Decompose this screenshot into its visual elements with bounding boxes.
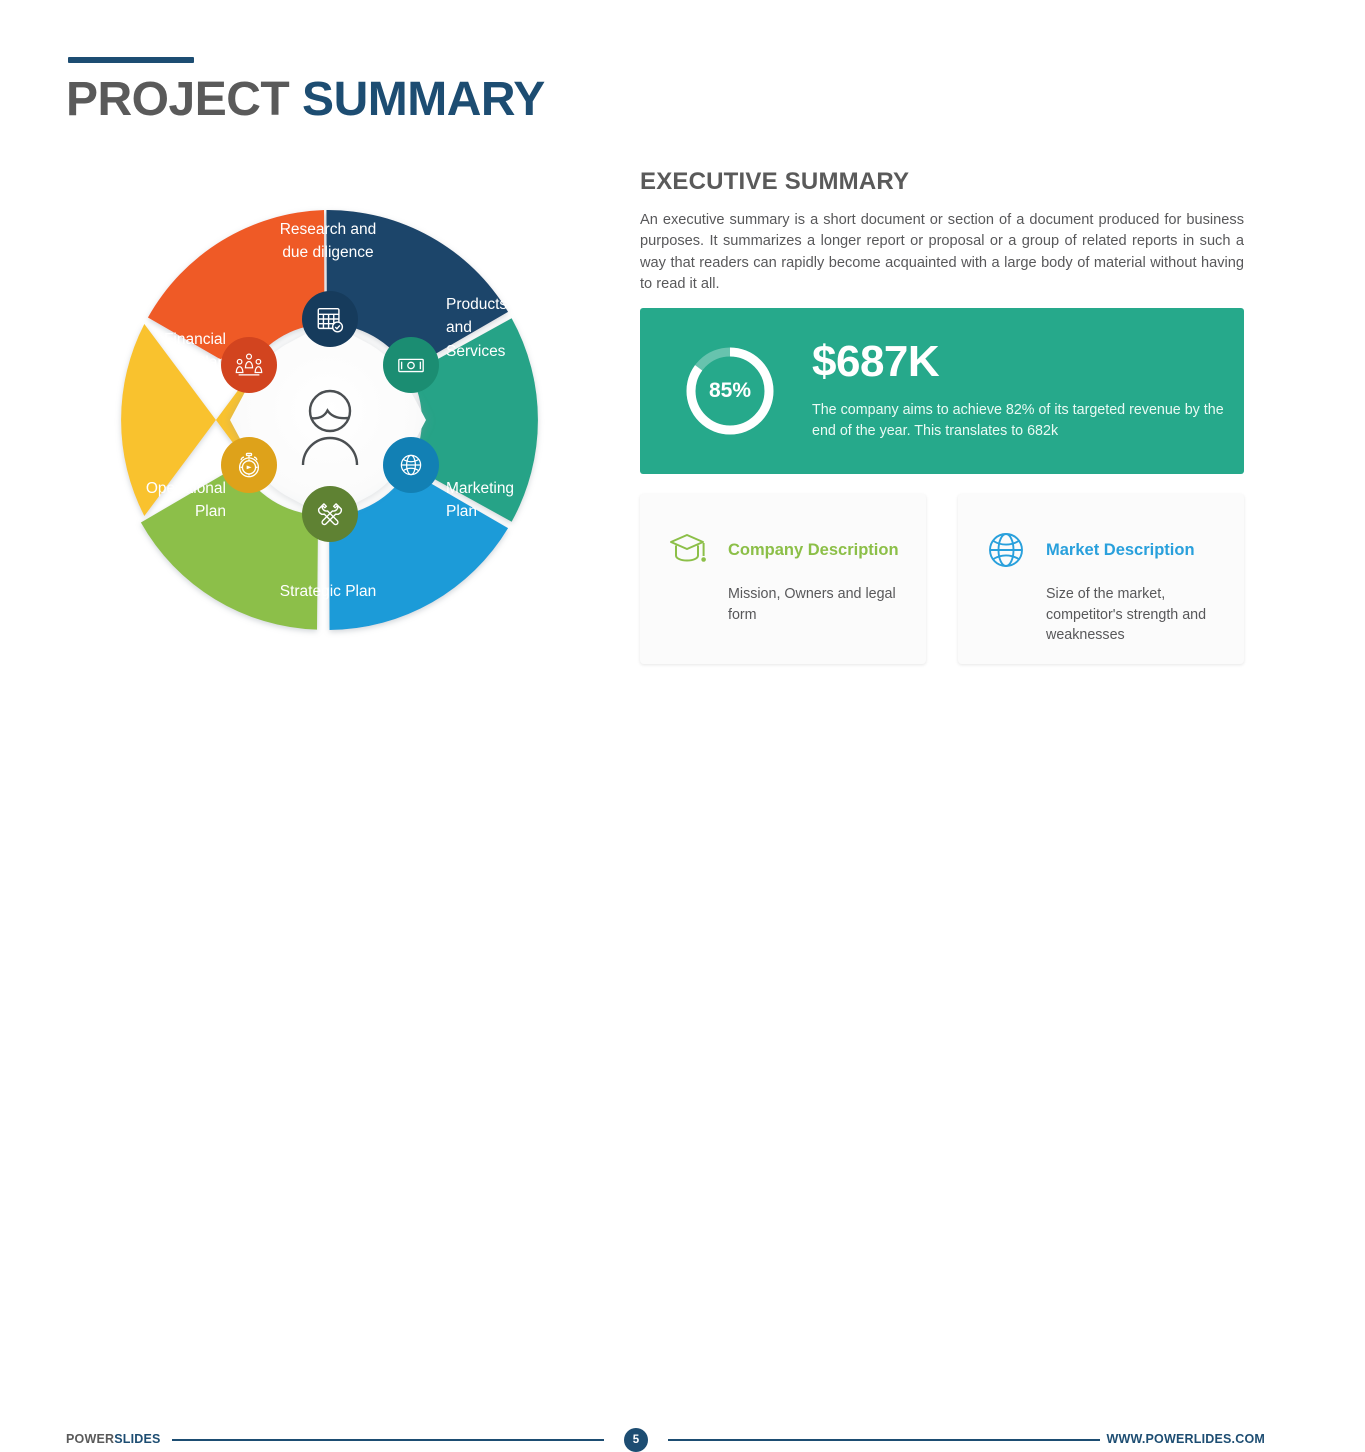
- progress-donut: 85%: [682, 343, 778, 439]
- executive-summary-heading: EXECUTIVE SUMMARY: [640, 168, 1244, 196]
- footer-logo-part1: POWER: [66, 1432, 114, 1446]
- graduation-cap-icon: [666, 528, 710, 572]
- globe-icon: [984, 528, 1028, 572]
- spreadsheet-check-icon[interactable]: [302, 291, 358, 347]
- card-market-description[interactable]: Market Description Size of the market, c…: [958, 494, 1244, 664]
- executive-summary-block: EXECUTIVE SUMMARY An executive summary i…: [640, 168, 1244, 296]
- progress-donut-label: 85%: [682, 343, 778, 439]
- tools-icon[interactable]: [302, 486, 358, 542]
- footer-url: WWW.POWERLIDES.COM: [1107, 1432, 1265, 1446]
- page-title-part2: SUMMARY: [302, 73, 545, 126]
- globe-icon[interactable]: [383, 437, 439, 493]
- kpi-amount: $687K: [812, 340, 1232, 384]
- card-header: Company Description: [640, 494, 926, 572]
- card-title: Market Description: [1046, 541, 1195, 560]
- info-cards: Company Description Mission, Owners and …: [640, 494, 1244, 664]
- project-wheel-diagram: Research and due diligence Products and …: [78, 170, 578, 670]
- page-number-badge: 5: [624, 1428, 648, 1452]
- card-company-description[interactable]: Company Description Mission, Owners and …: [640, 494, 926, 664]
- team-icon[interactable]: [221, 337, 277, 393]
- page-title-part1: PROJECT: [66, 73, 302, 126]
- page-title: PROJECT SUMMARY: [66, 72, 545, 127]
- slide-root: PROJECT SUMMARY: [0, 0, 1365, 767]
- card-body: Mission, Owners and legal form: [728, 584, 908, 625]
- kpi-text-block: $687K The company aims to achieve 82% of…: [812, 340, 1232, 441]
- card-header: Market Description: [958, 494, 1244, 572]
- card-body: Size of the market, competitor's strengt…: [1046, 584, 1226, 646]
- footer: POWERSLIDES 5 WWW.POWERLIDES.COM: [0, 714, 1365, 754]
- banknote-icon[interactable]: [383, 337, 439, 393]
- kpi-panel: 85% $687K The company aims to achieve 82…: [640, 308, 1244, 474]
- person-icon: [280, 375, 380, 480]
- card-title: Company Description: [728, 541, 899, 560]
- executive-summary-paragraph: An executive summary is a short document…: [640, 210, 1244, 296]
- footer-logo-part2: SLIDES: [114, 1432, 160, 1446]
- footer-logo: POWERSLIDES: [66, 1432, 161, 1446]
- footer-divider-left: [172, 1439, 604, 1441]
- footer-divider-right: [668, 1439, 1100, 1441]
- title-accent-bar: [68, 57, 194, 63]
- stopwatch-icon[interactable]: [221, 437, 277, 493]
- kpi-description: The company aims to achieve 82% of its t…: [812, 400, 1232, 441]
